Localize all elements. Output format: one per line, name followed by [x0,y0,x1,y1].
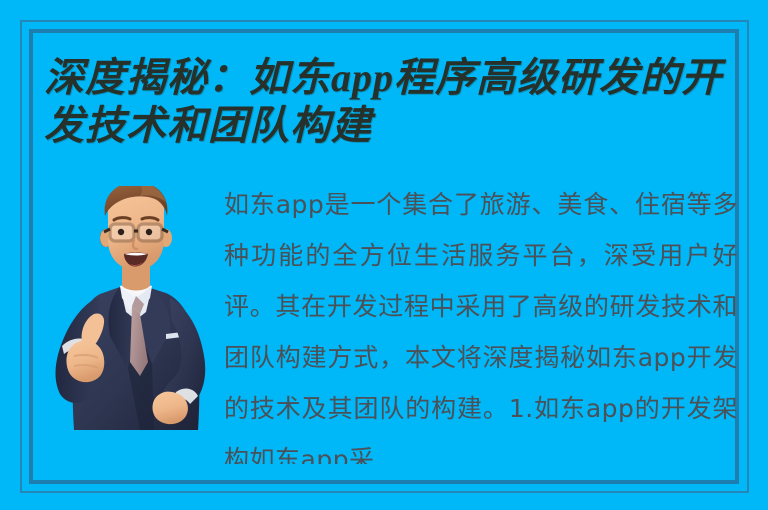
page-title: 深度揭秘：如东app程序高级研发的开发技术和团队构建 [44,54,744,150]
body-paragraph: 如东app是一个集合了旅游、美食、住宿等多种功能的全方位生活服务平台，深受用户好… [224,179,738,464]
head [100,186,172,270]
businessman-svg [48,186,224,434]
businessman-illustration [48,186,224,434]
poster-canvas: 深度揭秘：如东app程序高级研发的开发技术和团队构建 [0,0,768,510]
